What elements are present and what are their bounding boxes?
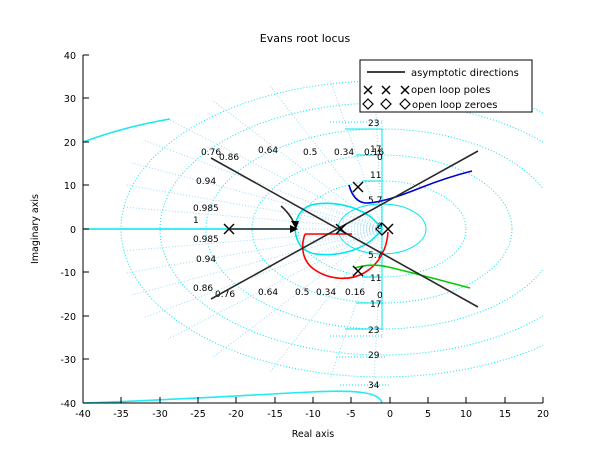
damping-label-0.5: 0.5 — [303, 148, 317, 158]
x-tick-label: 20 — [537, 409, 549, 420]
zero-label-bottom: 0 — [377, 291, 383, 301]
y-axis-label: Imaginary axis — [30, 194, 41, 264]
damping-label-0.34-lower: 0.34 — [316, 288, 336, 298]
y-tick-label: -10 — [60, 268, 76, 279]
damping-label-0.86: 0.86 — [219, 153, 239, 163]
wn-label-17-lower: 17 — [370, 300, 381, 310]
wn-label-29-lower: 29 — [368, 351, 380, 361]
wn-label-23-lower: 23 — [368, 326, 379, 336]
x-tick-label: -25 — [190, 409, 206, 420]
damping-label-0.16-lower: 0.16 — [345, 288, 365, 298]
x-tick-label: 5 — [425, 409, 431, 420]
zero-label-top: 0 — [377, 153, 383, 163]
damping-label-0.94-upper: 0.94 — [196, 177, 216, 187]
x-tick-label: -40 — [75, 409, 91, 420]
y-tick-label: 40 — [64, 51, 76, 62]
damping-label-0.5-lower: 0.5 — [295, 288, 309, 298]
x-tick-label: -20 — [228, 409, 244, 420]
damping-label-0.64-lower: 0.64 — [258, 288, 278, 298]
legend: asymptotic directions open loop poles op… — [360, 60, 532, 112]
x-tick-label: 15 — [499, 409, 511, 420]
damping-label-0.64: 0.64 — [258, 146, 278, 156]
x-tick-label: -10 — [305, 409, 321, 420]
x-tick-label: 10 — [460, 409, 472, 420]
wn-label-23-upper: 23 — [368, 119, 379, 129]
y-tick-label: 0 — [70, 225, 76, 236]
wn-label-34-lower: 34 — [368, 381, 380, 391]
y-tick-label: -40 — [60, 399, 76, 410]
page-title: Evans root locus — [260, 32, 351, 45]
x-tick-label: -15 — [267, 409, 283, 420]
legend-label-poles: open loop poles — [411, 85, 490, 96]
damping-label-0.985-upper: 0.985 — [193, 204, 219, 214]
damping-label-0.94-lower: 0.94 — [196, 255, 216, 265]
x-tick-label: -35 — [113, 409, 129, 420]
damping-label-0.985-lower: 0.985 — [193, 235, 219, 245]
x-tick-label: -5 — [346, 409, 355, 420]
damping-label-0.34: 0.34 — [334, 148, 354, 158]
y-tick-label: 20 — [64, 138, 76, 149]
damping-label-1: 1 — [193, 216, 199, 226]
wn-label-11-lower: 11 — [370, 274, 381, 284]
x-tick-label: -30 — [152, 409, 168, 420]
legend-label-asymptotic: asymptotic directions — [411, 68, 519, 79]
y-tick-label: 10 — [64, 181, 76, 192]
x-tick-label: 0 — [387, 409, 393, 420]
y-tick-label: -20 — [60, 312, 76, 323]
root-locus-figure: Evans root locus — [0, 0, 610, 460]
y-tick-label: -30 — [60, 355, 76, 366]
wn-label-11-upper: 11 — [370, 171, 381, 181]
legend-label-zeroes: open loop zeroes — [412, 100, 497, 111]
y-tick-label: 30 — [64, 94, 76, 105]
damping-label-0.86-lower: 0.86 — [193, 284, 213, 294]
x-axis-label: Real axis — [292, 429, 335, 440]
